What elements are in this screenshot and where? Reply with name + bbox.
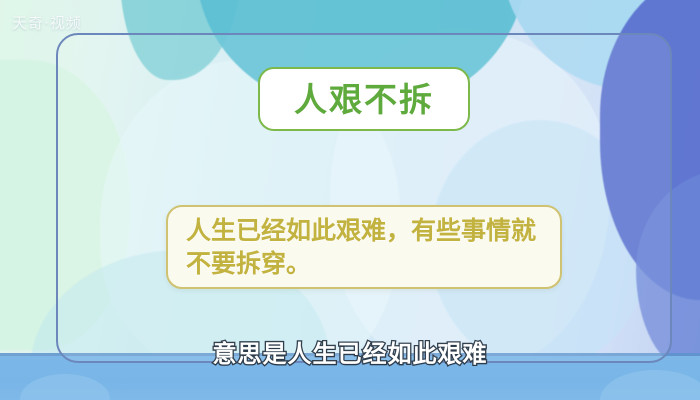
title-text: 人艰不拆 [294,83,434,116]
subtitle-text: 意思是人生已经如此艰难 [0,334,700,369]
definition-card: 人生已经如此艰难，有些事情就不要拆穿。 [166,205,562,289]
video-frame: 天奇·视频 人艰不拆 人生已经如此艰难，有些事情就不要拆穿。 意思是人生已经如此… [0,0,700,400]
bottom-band-blob-left [20,374,110,400]
definition-text: 人生已经如此艰难，有些事情就不要拆穿。 [186,214,546,280]
watermark-label: 天奇·视频 [12,12,82,33]
title-card: 人艰不拆 [258,67,470,131]
bottom-band-blob-right [600,370,700,400]
